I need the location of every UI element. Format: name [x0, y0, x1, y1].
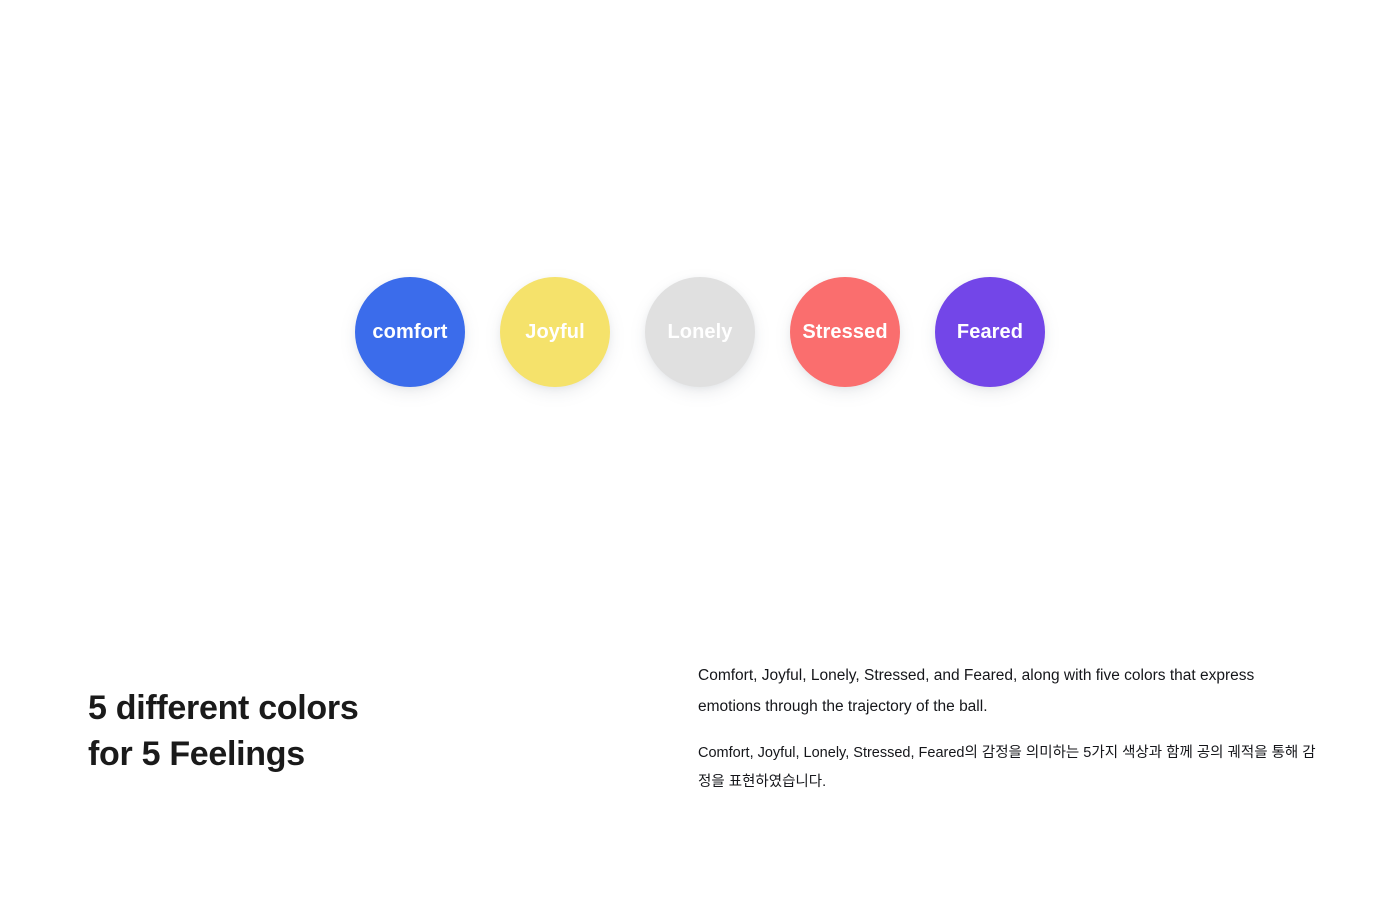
- feeling-circle-lonely[interactable]: Lonely: [645, 277, 755, 387]
- bottom-section: 5 different colors for 5 Feelings Comfor…: [0, 645, 1400, 845]
- feeling-circle-stressed[interactable]: Stressed: [790, 277, 900, 387]
- description-paragraph-ko: Comfort, Joyful, Lonely, Stressed, Feare…: [698, 739, 1316, 797]
- feeling-circle-label-joyful: Joyful: [525, 322, 585, 342]
- description-block: Comfort, Joyful, Lonely, Stressed, and F…: [698, 660, 1316, 797]
- feeling-circle-label-lonely: Lonely: [667, 322, 732, 342]
- feeling-circle-row: comfort Joyful Lonely Stressed Feared: [355, 277, 1045, 389]
- feeling-circle-label-comfort: comfort: [372, 322, 447, 342]
- feeling-circle-feared[interactable]: Feared: [935, 277, 1045, 387]
- feeling-circle-label-stressed: Stressed: [802, 322, 887, 342]
- description-paragraph-en: Comfort, Joyful, Lonely, Stressed, and F…: [698, 660, 1316, 722]
- feeling-circle-comfort[interactable]: comfort: [355, 277, 465, 387]
- feeling-circle-label-feared: Feared: [957, 322, 1023, 342]
- feeling-circle-joyful[interactable]: Joyful: [500, 277, 610, 387]
- section-heading: 5 different colors for 5 Feelings: [88, 685, 608, 777]
